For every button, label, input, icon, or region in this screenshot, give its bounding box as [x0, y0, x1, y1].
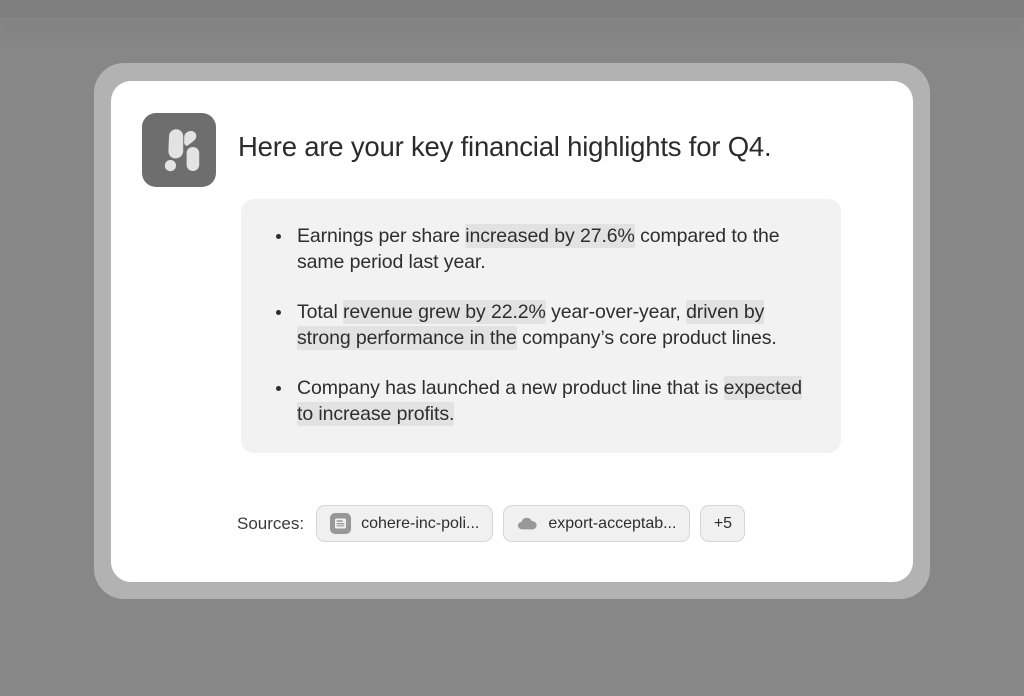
sources-row: Sources: cohere-inc-poli... export-accep…: [237, 505, 745, 542]
card-header: Here are your key financial highlights f…: [142, 113, 882, 187]
background-top-bar-blur: [0, 18, 1024, 40]
sources-label: Sources:: [237, 514, 304, 534]
citation-highlight: revenue grew by 22.2%: [343, 300, 546, 324]
assistant-message-card: Here are your key financial highlights f…: [111, 81, 913, 582]
list-item: Earnings per share increased by 27.6% co…: [267, 223, 815, 275]
text-segment: Company has launched a new product line …: [297, 377, 724, 399]
source-chip-cloud[interactable]: export-acceptab...: [503, 505, 690, 542]
cohere-logo-icon: [142, 113, 216, 187]
text-segment: Earnings per share: [297, 225, 465, 247]
text-segment: company’s core product lines.: [517, 327, 777, 349]
list-item: Company has launched a new product line …: [267, 375, 815, 427]
card-title: Here are your key financial highlights f…: [238, 130, 771, 163]
cloud-icon: [517, 513, 538, 534]
source-chip-label: cohere-inc-poli...: [361, 515, 479, 533]
sources-more-button[interactable]: +5: [700, 505, 745, 542]
background-top-bar: [0, 0, 1024, 18]
highlights-panel: Earnings per share increased by 27.6% co…: [241, 199, 841, 453]
highlights-list: Earnings per share increased by 27.6% co…: [267, 223, 815, 427]
text-segment: Total: [297, 301, 343, 323]
citation-highlight: increased by 27.6%: [465, 224, 634, 248]
list-item: Total revenue grew by 22.2% year-over-ye…: [267, 299, 815, 351]
source-chip-document[interactable]: cohere-inc-poli...: [316, 505, 493, 542]
text-segment: year-over-year,: [546, 301, 686, 323]
source-chip-label: export-acceptab...: [548, 515, 676, 533]
document-icon: [330, 513, 351, 534]
